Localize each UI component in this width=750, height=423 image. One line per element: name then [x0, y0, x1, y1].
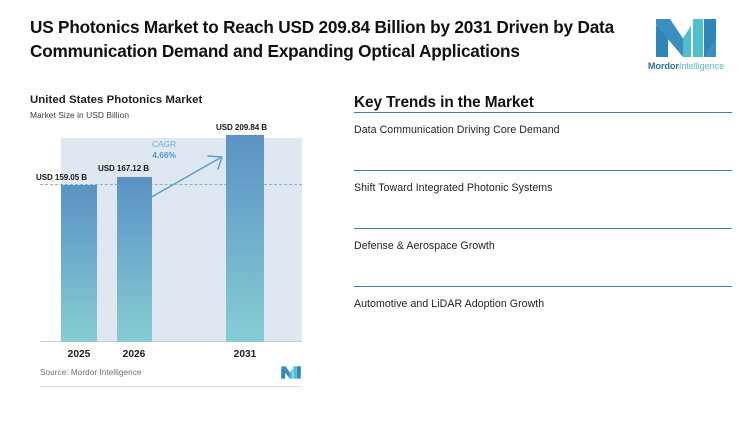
trend-label-1: Data Communication Driving Core Demand	[354, 124, 732, 136]
xtick-2025: 2025	[58, 349, 100, 360]
bar-label-2026: USD 167.12 B	[98, 164, 149, 173]
bar-2031[interactable]	[226, 135, 264, 342]
bar-label-2025: USD 159.05 B	[36, 173, 87, 182]
cagr-value: 4.66%	[152, 150, 176, 160]
brand-wordmark: MordorIntelligence	[648, 61, 724, 71]
mordor-m-mark-icon	[280, 366, 302, 379]
trend-item-4[interactable]: Automotive and LiDAR Adoption Growth	[354, 286, 732, 344]
chart-subtitle: Market Size in USD Billion	[30, 110, 326, 120]
content-area: United States Photonics Market Market Si…	[0, 80, 750, 387]
trend-item-3[interactable]: Defense & Aerospace Growth	[354, 228, 732, 286]
chart-title: United States Photonics Market	[30, 94, 326, 106]
mordor-m-logo-icon	[655, 18, 717, 58]
key-trends-panel: Key Trends in the Market Data Communicat…	[326, 80, 732, 387]
cagr-annotation: CAGR 4.66%	[152, 139, 176, 160]
page-title: US Photonics Market to Reach USD 209.84 …	[30, 16, 640, 63]
bar-chart-plot: USD 159.05 B USD 167.12 B USD 209.84 B C…	[40, 138, 302, 360]
chart-source: Source: Mordor Intelligence	[40, 368, 141, 377]
cagr-label: CAGR	[152, 139, 176, 149]
bar-2025[interactable]	[61, 185, 97, 342]
xtick-2026: 2026	[113, 349, 155, 360]
brand-name-light: Intelligence	[679, 61, 724, 71]
trend-item-1[interactable]: Data Communication Driving Core Demand	[354, 112, 732, 170]
header: US Photonics Market to Reach USD 209.84 …	[0, 0, 750, 80]
chart-card: United States Photonics Market Market Si…	[30, 80, 326, 387]
trend-label-2: Shift Toward Integrated Photonic Systems	[354, 182, 732, 194]
trends-heading: Key Trends in the Market	[354, 94, 732, 112]
trend-item-2[interactable]: Shift Toward Integrated Photonic Systems	[354, 170, 732, 228]
trend-label-4: Automotive and LiDAR Adoption Growth	[354, 298, 732, 310]
trend-label-3: Defense & Aerospace Growth	[354, 240, 732, 252]
xtick-2031: 2031	[224, 349, 266, 360]
bar-2026[interactable]	[117, 177, 152, 342]
bar-label-2031: USD 209.84 B	[216, 123, 267, 132]
chart-footer: Source: Mordor Intelligence	[40, 366, 302, 387]
brand-logo: MordorIntelligence	[640, 16, 732, 71]
brand-name-bold: Mordor	[648, 61, 679, 71]
